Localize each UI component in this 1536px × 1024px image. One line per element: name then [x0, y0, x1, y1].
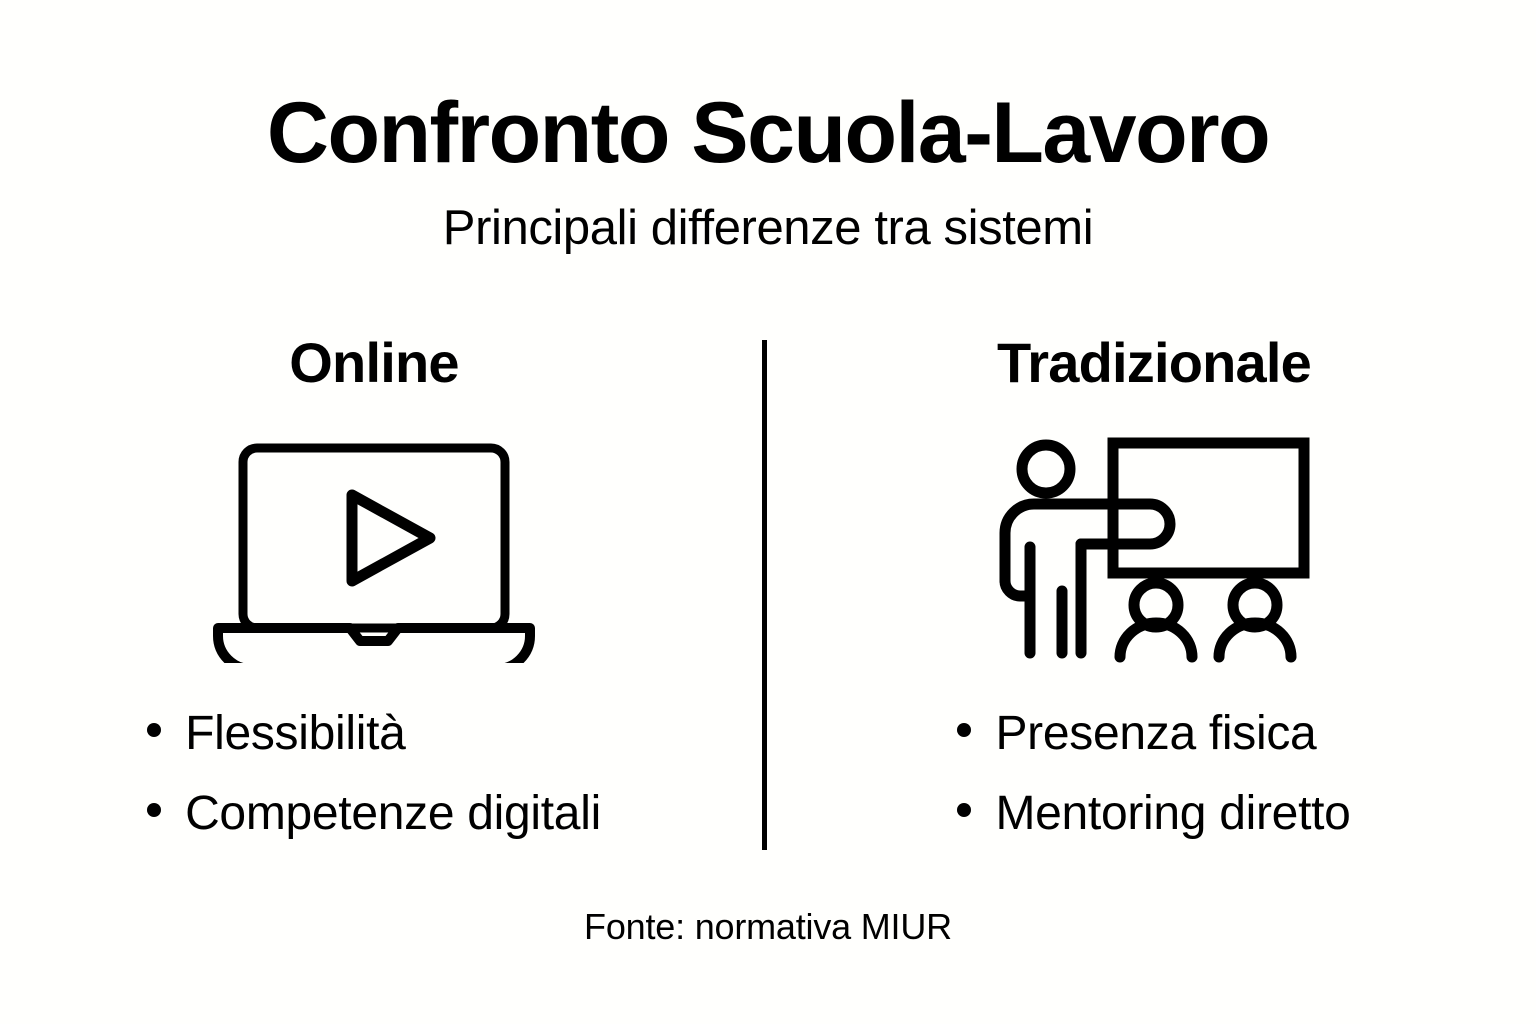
laptop-play-icon [204, 424, 544, 664]
column-online: Online Flessibilità Comp [0, 332, 764, 862]
page-title: Confronto Scuola-Lavoro [0, 88, 1536, 178]
list-item: Flessibilità [147, 710, 601, 758]
column-heading-online: Online [289, 332, 458, 394]
list-item-label: Flessibilità [185, 710, 405, 758]
classroom-teacher-icon [989, 424, 1319, 664]
column-heading-tradizionale: Tradizionale [997, 332, 1311, 394]
student-body-shape-2 [1219, 623, 1291, 657]
bullet-dot-icon [957, 723, 971, 737]
play-triangle-icon [352, 495, 430, 581]
comparison-columns: Online Flessibilità Comp [0, 332, 1536, 862]
column-tradizionale: Tradizionale [764, 332, 1528, 862]
laptop-base-shape [218, 628, 530, 663]
bullet-dot-icon [147, 723, 161, 737]
list-item-label: Mentoring diretto [995, 790, 1350, 838]
infographic-root: Confronto Scuola-Lavoro Principali diffe… [0, 0, 1536, 1024]
teacher-head-icon [1022, 445, 1070, 493]
list-item: Mentoring diretto [957, 790, 1350, 838]
source-note: Fonte: normativa MIUR [0, 906, 1536, 948]
laptop-play-icon-svg [204, 425, 544, 663]
list-item: Presenza fisica [957, 710, 1350, 758]
page-subtitle: Principali differenze tra sistemi [0, 202, 1536, 256]
bullet-list-online: Flessibilità Competenze digitali [147, 710, 601, 838]
header: Confronto Scuola-Lavoro Principali diffe… [0, 88, 1536, 256]
column-divider [762, 340, 767, 850]
list-item-label: Presenza fisica [995, 710, 1316, 758]
teacher-arm-shape [1081, 504, 1170, 544]
bullet-dot-icon [957, 803, 971, 817]
list-item-label: Competenze digitali [185, 790, 601, 838]
bullet-list-tradizionale: Presenza fisica Mentoring diretto [957, 710, 1350, 838]
laptop-screen-shape [243, 448, 505, 628]
student-body-shape-1 [1120, 623, 1192, 657]
bullet-dot-icon [147, 803, 161, 817]
footer: Fonte: normativa MIUR [0, 906, 1536, 948]
list-item: Competenze digitali [147, 790, 601, 838]
classroom-teacher-icon-svg [989, 425, 1319, 663]
